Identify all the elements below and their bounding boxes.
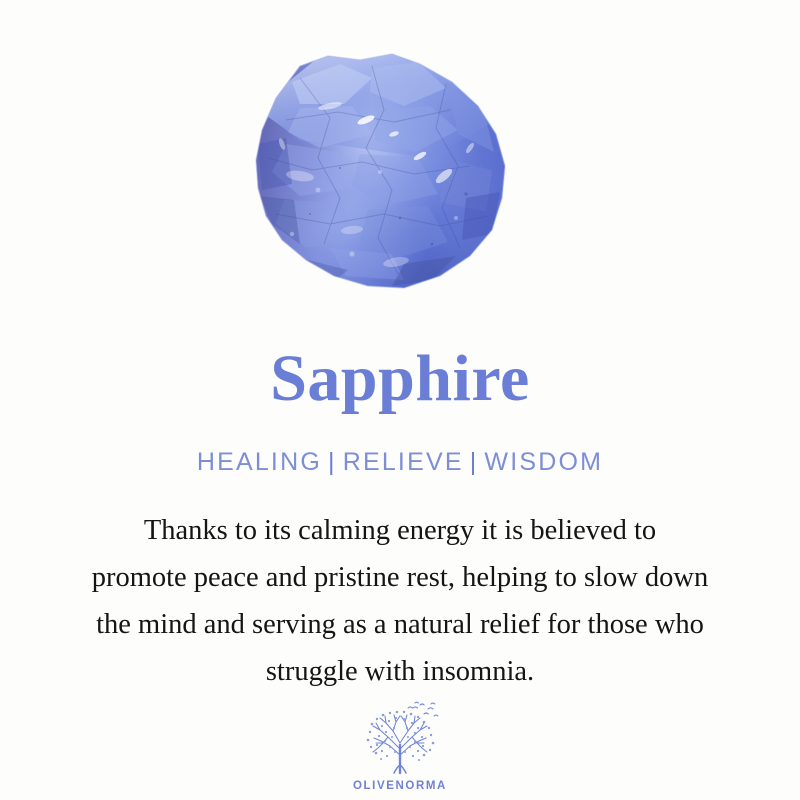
rough-sapphire-crystal-image <box>0 0 800 300</box>
description-line: Thanks to its calming energy it is belie… <box>20 507 780 554</box>
keyword-separator: | <box>464 448 485 476</box>
sapphire-info-card: Sapphire HEALING|RELIEVE|WISDOM Thanks t… <box>0 0 800 800</box>
gemstone-image-container <box>0 0 800 300</box>
keyword-wisdom: WISDOM <box>484 448 603 476</box>
brand-wordmark: OLIVENORMA <box>353 780 447 792</box>
keywords-subtitle: HEALING|RELIEVE|WISDOM <box>197 412 603 477</box>
keyword-healing: HEALING <box>197 448 322 476</box>
description-line: struggle with insomnia. <box>20 648 780 695</box>
brand-logo: OLIVENORMA <box>0 699 800 792</box>
keyword-relieve: RELIEVE <box>343 448 464 476</box>
description-line: promote peace and pristine rest, helping… <box>20 554 780 601</box>
birds-icon <box>408 702 438 716</box>
gemstone-title: Sapphire <box>270 300 530 412</box>
description-line: the mind and serving as a natural relief… <box>20 601 780 648</box>
keyword-separator: | <box>322 448 343 476</box>
gemstone-description: Thanks to its calming energy it is belie… <box>20 477 780 695</box>
tree-of-life-icon <box>352 699 448 779</box>
